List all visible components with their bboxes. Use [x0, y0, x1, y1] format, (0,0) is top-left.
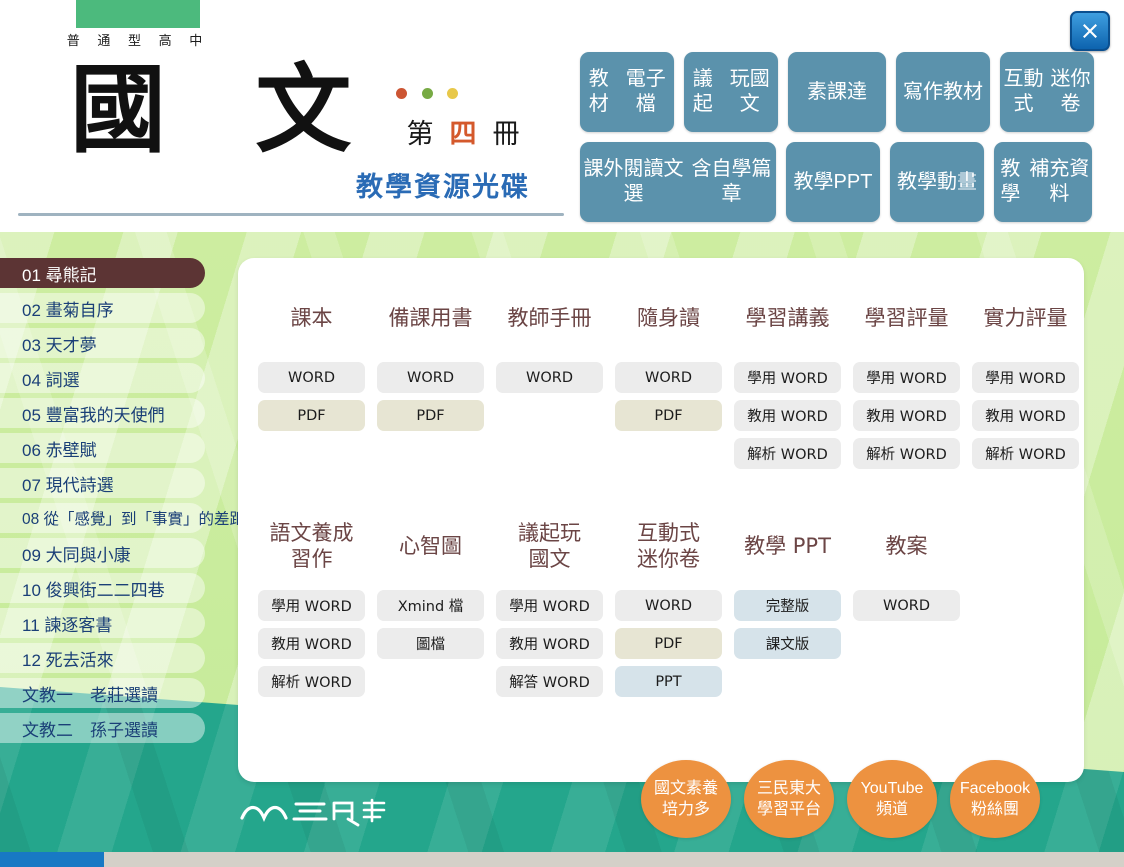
header-button-label: 素課達: [807, 80, 867, 105]
sidebar-item[interactable]: 09 大同與小康: [0, 538, 205, 568]
resource-chip[interactable]: WORD: [615, 590, 722, 621]
footer-link-label: 培力多: [662, 799, 710, 820]
resource-column: 議起玩國文學用 WORD教用 WORD解答 WORD: [490, 520, 609, 704]
subtitle: 教學資源光碟: [356, 165, 530, 204]
resource-column-header: 心智圖: [399, 520, 462, 572]
resource-column-header: 語文養成習作: [270, 520, 354, 572]
resource-column-header: 互動式迷你卷: [637, 520, 700, 572]
resource-column-header: 教師手冊: [508, 292, 592, 344]
dot-yellow: [447, 88, 458, 99]
resource-column: 課本WORDPDF: [252, 292, 371, 476]
resource-column: 教師手冊WORD: [490, 292, 609, 476]
resource-column-header: 議起玩國文: [518, 520, 581, 572]
resource-chip[interactable]: 學用 WORD: [972, 362, 1079, 393]
sidebar-item-label: 07 現代詩選: [22, 471, 114, 496]
header-button-label: 教材: [580, 67, 618, 117]
sidebar-item-label: 04 詞選: [22, 366, 80, 391]
header-button-label: 教學: [897, 170, 937, 195]
resource-column: 教案WORD: [847, 520, 966, 704]
horizontal-scrollbar-track[interactable]: [0, 852, 1124, 867]
header-button-group: 教材電子檔議起玩國文素課達寫作教材互動式迷你卷 課外閱讀文選含自學篇章教學PPT…: [580, 52, 1110, 232]
resource-chip[interactable]: 課文版: [734, 628, 841, 659]
header-button-label: 議起: [684, 67, 722, 117]
sidebar-item[interactable]: 07 現代詩選: [0, 468, 205, 498]
lesson-sidebar: 01 尋熊記02 畫菊自序03 天才夢04 詞選05 豐富我的天使們06 赤壁賦…: [0, 258, 232, 748]
close-icon[interactable]: [1070, 11, 1110, 51]
resource-chip[interactable]: PDF: [258, 400, 365, 431]
resource-chip[interactable]: WORD: [258, 362, 365, 393]
sidebar-item-label: 06 赤壁賦: [22, 436, 97, 461]
resource-column: 語文養成習作學用 WORD教用 WORD解析 WORD: [252, 520, 371, 704]
header-button[interactable]: 教學動畫: [890, 142, 984, 222]
resource-chip[interactable]: 學用 WORD: [853, 362, 960, 393]
resource-column: 隨身讀WORDPDF: [609, 292, 728, 476]
resource-grid-secondary: 語文養成習作學用 WORD教用 WORD解析 WORD心智圖Xmind 檔圖檔議…: [252, 520, 966, 704]
footer-link-label: 粉絲團: [971, 799, 1019, 820]
volume-suffix: 冊: [493, 119, 520, 150]
resource-chip[interactable]: 學用 WORD: [258, 590, 365, 621]
header-button[interactable]: 素課達: [788, 52, 886, 132]
resource-chip[interactable]: 解析 WORD: [258, 666, 365, 697]
footer-link-label: 學習平台: [757, 799, 821, 820]
sidebar-item[interactable]: 04 詞選: [0, 363, 205, 393]
resource-column: 學習評量學用 WORD教用 WORD解析 WORD: [847, 292, 966, 476]
volume-number: 四: [450, 119, 477, 150]
resource-chip[interactable]: 教用 WORD: [853, 400, 960, 431]
resource-chip[interactable]: 教用 WORD: [972, 400, 1079, 431]
sidebar-item[interactable]: 12 死去活來: [0, 643, 205, 673]
resource-chip[interactable]: 完整版: [734, 590, 841, 621]
footer-link-circle[interactable]: Facebook粉絲團: [950, 760, 1040, 838]
sidebar-item-label: 08 從「感覺」到「事實」的差距: [22, 507, 245, 529]
sidebar-item[interactable]: 03 天才夢: [0, 328, 205, 358]
volume-line: 第四冊: [388, 112, 538, 151]
footer-link-label: Facebook: [960, 778, 1030, 799]
header-button-label: 課外閱讀文選: [580, 157, 687, 207]
header-button-row-2: 課外閱讀文選含自學篇章教學PPT教學動畫教學補充資料: [580, 142, 1110, 222]
resource-chip[interactable]: 教用 WORD: [258, 628, 365, 659]
resource-chip[interactable]: 教用 WORD: [496, 628, 603, 659]
resource-chip[interactable]: 解析 WORD: [853, 438, 960, 469]
sidebar-item-label: 文教二 孫子選讀: [22, 716, 158, 741]
footer-link-label: YouTube: [861, 778, 924, 799]
sidebar-item[interactable]: 06 赤壁賦: [0, 433, 205, 463]
footer-link-circle[interactable]: YouTube頻道: [847, 760, 937, 838]
sidebar-item[interactable]: 10 俊興街二二四巷: [0, 573, 205, 603]
footer-link-circle[interactable]: 三民東大學習平台: [744, 760, 834, 838]
resource-column-header: 隨身讀: [637, 292, 700, 344]
sidebar-item[interactable]: 08 從「感覺」到「事實」的差距: [0, 503, 205, 533]
resource-chip[interactable]: 學用 WORD: [734, 362, 841, 393]
header-button[interactable]: 互動式迷你卷: [1000, 52, 1094, 132]
header-divider: [18, 213, 564, 216]
header-button-label: 教學: [994, 157, 1027, 207]
sidebar-item-label: 01 尋熊記: [22, 261, 97, 286]
volume-prefix: 第: [407, 119, 434, 150]
resource-chip[interactable]: 解析 WORD: [972, 438, 1079, 469]
header-button-label: 教學: [794, 170, 834, 195]
sidebar-item-label: 03 天才夢: [22, 331, 97, 356]
sidebar-item[interactable]: 11 諫逐客書: [0, 608, 205, 638]
resource-chip[interactable]: PDF: [615, 400, 722, 431]
page-title: 國 文: [70, 62, 379, 158]
footer-link-label: 三民東大: [757, 778, 821, 799]
resource-chip[interactable]: PDF: [615, 628, 722, 659]
curriculum-label: 普 通 型 高 中: [62, 30, 214, 49]
header-button-label: 教材: [943, 80, 983, 105]
publisher-logo: [240, 792, 390, 828]
header-button[interactable]: 教材電子檔: [580, 52, 674, 132]
resource-chip[interactable]: 教用 WORD: [734, 400, 841, 431]
sidebar-item-label: 09 大同與小康: [22, 541, 131, 566]
footer-link-label: 國文素養: [654, 778, 718, 799]
header-button[interactable]: 議起玩國文: [684, 52, 778, 132]
resource-column: 學習講義學用 WORD教用 WORD解析 WORD: [728, 292, 847, 476]
sidebar-item[interactable]: 文教一 老莊選讀: [0, 678, 205, 708]
sidebar-item[interactable]: 01 尋熊記: [0, 258, 205, 288]
resource-column: 教學 PPT完整版課文版: [728, 520, 847, 704]
header-button[interactable]: 教學補充資料: [994, 142, 1092, 222]
footer-link-circle[interactable]: 國文素養培力多: [641, 760, 731, 838]
resource-panel: 課本WORDPDF備課用書WORDPDF教師手冊WORD隨身讀WORDPDF學習…: [238, 258, 1084, 782]
resource-column-header: 教學 PPT: [744, 520, 831, 572]
sidebar-item-label: 文教一 老莊選讀: [22, 681, 158, 706]
resource-chip[interactable]: WORD: [377, 362, 484, 393]
resource-column: 互動式迷你卷WORDPDFPPT: [609, 520, 728, 704]
sidebar-item-label: 05 豐富我的天使們: [22, 401, 165, 426]
sidebar-item[interactable]: 05 豐富我的天使們: [0, 398, 205, 428]
sidebar-item-label: 12 死去活來: [22, 646, 114, 671]
header-button[interactable]: 教學PPT: [786, 142, 880, 222]
resource-column: 心智圖Xmind 檔圖檔: [371, 520, 490, 704]
resource-chip[interactable]: 解答 WORD: [496, 666, 603, 697]
resource-column-header: 教案: [886, 520, 928, 572]
green-tab-block: [76, 0, 200, 28]
resource-chip[interactable]: 學用 WORD: [496, 590, 603, 621]
resource-column-header: 備課用書: [389, 292, 473, 344]
header-button-label: 含自學篇章: [687, 157, 776, 207]
resource-column-header: 實力評量: [984, 292, 1068, 344]
resource-column: 備課用書WORDPDF: [371, 292, 490, 476]
dot-red: [396, 88, 407, 99]
resource-chip[interactable]: 解析 WORD: [734, 438, 841, 469]
sidebar-item[interactable]: 02 畫菊自序: [0, 293, 205, 323]
resource-column-header: 學習講義: [746, 292, 830, 344]
dot-green: [422, 88, 433, 99]
footer-link-label: 頻道: [876, 799, 908, 820]
sidebar-item-label: 10 俊興街二二四巷: [22, 576, 165, 601]
sidebar-item-label: 02 畫菊自序: [22, 296, 114, 321]
resource-chip[interactable]: WORD: [853, 590, 960, 621]
header-button-label: PPT: [834, 170, 873, 195]
header-button-label: 玩國文: [722, 67, 778, 117]
footer-link-group: 國文素養培力多三民東大學習平台YouTube頻道Facebook粉絲團: [641, 760, 1040, 838]
resource-column: 實力評量學用 WORD教用 WORD解析 WORD: [966, 292, 1085, 476]
resource-chip[interactable]: WORD: [496, 362, 603, 393]
resource-chip[interactable]: Xmind 檔: [377, 590, 484, 621]
header-button-label: 補充資料: [1027, 157, 1092, 207]
header-button-label: 電子檔: [618, 67, 674, 117]
decorative-dots: [396, 88, 458, 99]
horizontal-scrollbar-thumb[interactable]: [0, 852, 104, 867]
header-button[interactable]: 寫作教材: [896, 52, 990, 132]
application-window: 普 通 型 高 中 國 文 第四冊 教學資源光碟 教材電子檔議起玩國文素課達寫作…: [0, 0, 1124, 867]
resource-chip[interactable]: 圖檔: [377, 628, 484, 659]
header-bar: 普 通 型 高 中 國 文 第四冊 教學資源光碟 教材電子檔議起玩國文素課達寫作…: [0, 0, 1124, 232]
sidebar-item-label: 11 諫逐客書: [22, 611, 112, 636]
header-button-label: 互動式: [1000, 67, 1047, 117]
header-button-row-1: 教材電子檔議起玩國文素課達寫作教材互動式迷你卷: [580, 52, 1110, 132]
resource-chip[interactable]: WORD: [615, 362, 722, 393]
header-button-label: 寫作: [903, 80, 943, 105]
header-button-label: 動畫: [937, 170, 977, 195]
resource-grid-primary: 課本WORDPDF備課用書WORDPDF教師手冊WORD隨身讀WORDPDF學習…: [252, 292, 1085, 476]
resource-column-header: 學習評量: [865, 292, 949, 344]
sidebar-item[interactable]: 文教二 孫子選讀: [0, 713, 205, 743]
resource-column-header: 課本: [291, 292, 333, 344]
header-button-label: 迷你卷: [1047, 67, 1094, 117]
resource-chip[interactable]: PPT: [615, 666, 722, 697]
header-button[interactable]: 課外閱讀文選含自學篇章: [580, 142, 776, 222]
resource-chip[interactable]: PDF: [377, 400, 484, 431]
